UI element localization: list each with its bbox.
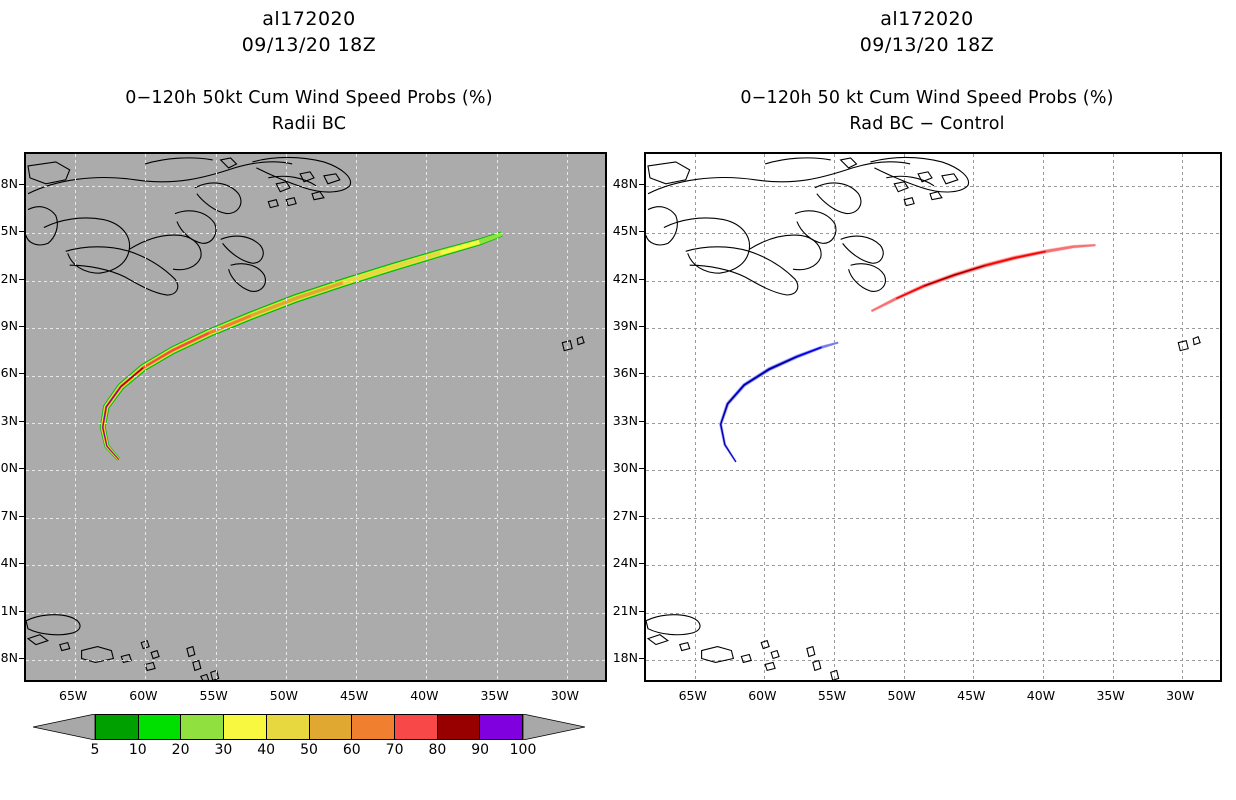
y-axis-tick-label: 21N	[0, 603, 18, 618]
right-storm-id: al172020	[618, 8, 1236, 30]
left-storm-id: al172020	[0, 8, 618, 30]
x-axis-tick-label: 55W	[192, 688, 236, 703]
colorbar-tick-label: 10	[129, 742, 147, 758]
colorbar-tick-label: 20	[172, 742, 190, 758]
colorbar-swatch	[181, 715, 224, 739]
left-sub-title: Radii BC	[0, 114, 618, 134]
figure-root: al172020 09/13/20 18Z 0−120h 50kt Cum Wi…	[0, 0, 1236, 800]
y-axis-tick-label: 48N	[598, 176, 638, 191]
contour-band	[871, 244, 1096, 313]
right-datetime: 09/13/20 18Z	[618, 34, 1236, 56]
y-axis-tick-label: 27N	[0, 508, 18, 523]
right-main-title: 0−120h 50 kt Cum Wind Speed Probs (%)	[618, 88, 1236, 108]
y-axis-tick-label: 45N	[0, 223, 18, 238]
left-colorbar-ticks: 5102030405060708090100	[95, 742, 523, 764]
y-axis-tick-mark	[19, 516, 25, 517]
panel-rad-bc-minus-control: al172020 09/13/20 18Z 0−120h 50 kt Cum W…	[618, 0, 1236, 800]
contour-band	[719, 341, 839, 462]
panel-radii-bc: al172020 09/13/20 18Z 0−120h 50kt Cum Wi…	[0, 0, 618, 800]
contour-band	[100, 232, 503, 461]
y-axis-tick-mark	[639, 326, 645, 327]
y-axis-tick-mark	[639, 468, 645, 469]
y-axis-tick-label: 18N	[0, 650, 18, 665]
y-axis-tick-mark	[19, 421, 25, 422]
y-axis-tick-label: 21N	[598, 603, 638, 618]
y-axis-tick-mark	[639, 611, 645, 612]
y-axis-tick-label: 48N	[0, 176, 18, 191]
y-axis-tick-label: 30N	[598, 460, 638, 475]
colorbar-tick-label: 70	[386, 742, 404, 758]
x-axis-tick-label: 55W	[810, 688, 854, 703]
left-main-title: 0−120h 50kt Cum Wind Speed Probs (%)	[0, 88, 618, 108]
y-axis-tick-label: 39N	[0, 318, 18, 333]
y-axis-tick-mark	[639, 516, 645, 517]
contour-band	[720, 356, 797, 462]
left-colorbar-high-arrow	[523, 714, 585, 740]
y-axis-tick-label: 42N	[598, 271, 638, 286]
colorbar-swatch	[438, 715, 481, 739]
x-axis-tick-label: 50W	[262, 688, 306, 703]
y-axis-tick-label: 24N	[0, 555, 18, 570]
y-axis-tick-label: 36N	[598, 365, 638, 380]
y-axis-tick-label: 30N	[0, 460, 18, 475]
contour-band	[871, 244, 1096, 312]
contour-band	[719, 342, 838, 463]
x-axis-tick-label: 35W	[1089, 688, 1133, 703]
colorbar-swatch	[395, 715, 438, 739]
x-axis-tick-label: 40W	[402, 688, 446, 703]
y-axis-tick-mark	[19, 279, 25, 280]
x-axis-tick-label: 60W	[121, 688, 165, 703]
colorbar-tick-label: 40	[257, 742, 275, 758]
right-map[interactable]	[644, 152, 1222, 682]
x-axis-tick-label: 30W	[1158, 688, 1202, 703]
y-axis-tick-mark	[639, 563, 645, 564]
colorbar-tick-label: 30	[214, 742, 232, 758]
left-map-frame	[24, 152, 607, 682]
y-axis-tick-label: 36N	[0, 365, 18, 380]
y-axis-tick-mark	[19, 326, 25, 327]
y-axis-tick-label: 18N	[598, 650, 638, 665]
y-axis-tick-label: 39N	[598, 318, 638, 333]
colorbar-tick-label: 80	[428, 742, 446, 758]
right-difference-contours	[646, 154, 1220, 680]
y-axis-tick-mark	[19, 468, 25, 469]
y-axis-tick-label: 45N	[598, 223, 638, 238]
y-axis-tick-mark	[639, 279, 645, 280]
x-axis-tick-label: 65W	[671, 688, 715, 703]
x-axis-tick-label: 45W	[332, 688, 376, 703]
contour-band	[101, 251, 441, 460]
left-colorbar-cells	[95, 714, 523, 740]
colorbar-swatch	[352, 715, 395, 739]
y-axis-tick-mark	[639, 231, 645, 232]
left-map[interactable]	[24, 152, 607, 682]
y-axis-tick-label: 24N	[598, 555, 638, 570]
colorbar-swatch	[96, 715, 139, 739]
x-axis-tick-label: 40W	[1019, 688, 1063, 703]
colorbar-swatch	[480, 715, 522, 739]
y-axis-tick-mark	[639, 373, 645, 374]
contour-band	[102, 281, 344, 460]
x-axis-tick-label: 45W	[949, 688, 993, 703]
left-probability-contours	[26, 154, 605, 680]
x-axis-tick-label: 30W	[543, 688, 587, 703]
colorbar-swatch	[139, 715, 182, 739]
left-datetime: 09/13/20 18Z	[0, 34, 618, 56]
y-axis-tick-mark	[19, 563, 25, 564]
contour-band	[720, 347, 822, 463]
colorbar-tick-label: 100	[510, 742, 537, 758]
y-axis-tick-label: 33N	[598, 413, 638, 428]
contour-band	[101, 232, 503, 460]
y-axis-tick-label: 33N	[0, 413, 18, 428]
y-axis-tick-mark	[19, 373, 25, 374]
colorbar-tick-label: 50	[300, 742, 318, 758]
y-axis-tick-mark	[19, 184, 25, 185]
left-colorbar-low-arrow	[33, 714, 95, 740]
y-axis-tick-mark	[19, 231, 25, 232]
y-axis-tick-mark	[639, 421, 645, 422]
y-axis-tick-label: 27N	[598, 508, 638, 523]
right-map-frame	[644, 152, 1222, 682]
contour-band	[100, 232, 502, 461]
colorbar-swatch	[310, 715, 353, 739]
colorbar-tick-label: 60	[343, 742, 361, 758]
colorbar-tick-label: 90	[471, 742, 489, 758]
y-axis-tick-mark	[639, 658, 645, 659]
contour-band	[101, 240, 480, 460]
colorbar-tick-label: 5	[91, 742, 100, 758]
y-axis-tick-label: 42N	[0, 271, 18, 286]
colorbar-swatch	[224, 715, 267, 739]
y-axis-tick-mark	[19, 658, 25, 659]
x-axis-tick-label: 35W	[473, 688, 517, 703]
y-axis-tick-mark	[639, 184, 645, 185]
x-axis-tick-label: 60W	[740, 688, 784, 703]
y-axis-tick-mark	[19, 611, 25, 612]
x-axis-tick-label: 65W	[51, 688, 95, 703]
right-sub-title: Rad BC − Control	[618, 114, 1236, 134]
colorbar-swatch	[267, 715, 310, 739]
left-colorbar[interactable]: 5102030405060708090100	[95, 714, 523, 740]
x-axis-tick-label: 50W	[880, 688, 924, 703]
